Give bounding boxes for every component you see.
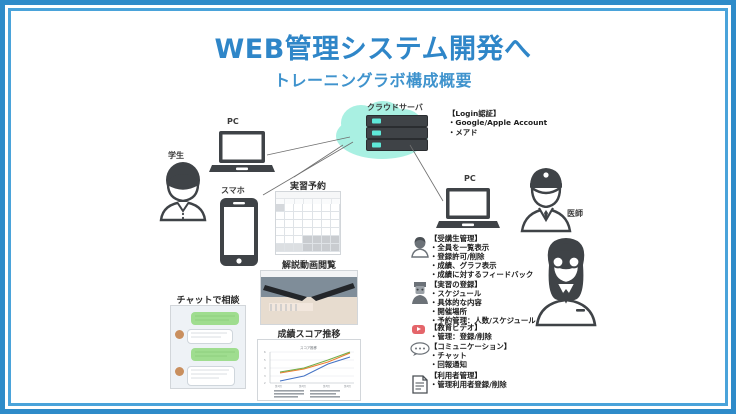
- feature-heading-4: 【利用者管理】: [430, 371, 507, 380]
- feature-item-0-1: ・登録許可/削除: [430, 252, 533, 261]
- svg-text:スコア推移: スコア推移: [300, 345, 318, 350]
- chat-bubble-received-1: [187, 329, 233, 344]
- smartphone-label: スマホ: [221, 185, 245, 196]
- feature-heading-3: 【コミュニケーション】: [430, 342, 511, 351]
- score-line-chart: スコア推移 654 32 第1回第2回 第3回第4回: [258, 340, 360, 400]
- chat-bubble-feature-icon: [410, 342, 430, 356]
- feature-item-1-2: ・開催場所: [430, 307, 536, 316]
- feature-block-3: 【コミュニケーション】 ・チャット ・回報通知: [430, 342, 511, 369]
- feature-block-2: 【教育ビデオ】 ・管理：登録/削除: [430, 323, 492, 341]
- score-chart-thumbnail: スコア推移 654 32 第1回第2回 第3回第4回: [257, 339, 361, 401]
- feature-item-0-2: ・成績、グラフ表示: [430, 261, 533, 270]
- feature-item-2-0: ・管理：登録/削除: [430, 332, 492, 341]
- connector-lines: [5, 5, 736, 414]
- chat-avatar-2: [175, 367, 184, 376]
- student-icon: [155, 160, 211, 222]
- student-feature-icon: [411, 236, 429, 258]
- feature-item-0-3: ・成績に対するフィードバック: [430, 270, 533, 279]
- video-frame: [261, 271, 357, 324]
- svg-text:5: 5: [264, 358, 266, 362]
- calendar-thumbnail: [275, 191, 341, 255]
- svg-text:2: 2: [264, 381, 266, 385]
- feature-item-3-1: ・回報通知: [430, 360, 511, 369]
- document-feature-icon: [411, 375, 429, 394]
- chat-bubble-received-2: [187, 366, 235, 386]
- svg-text:第4回: 第4回: [344, 384, 351, 388]
- feature-item-3-0: ・チャット: [430, 351, 511, 360]
- feature-heading-1: 【実習の登録】: [430, 280, 536, 289]
- pc-left-label: PC: [227, 117, 239, 126]
- svg-text:3: 3: [264, 374, 266, 378]
- feature-heading-0: 【受講生管理】: [430, 234, 533, 243]
- slide-frame: WEB管理システム開発へ トレーニングラボ構成概要 クラウドサーバ 【Login…: [0, 0, 736, 414]
- instructor-feature-icon: [411, 281, 429, 305]
- chat-bubble-sent-1: [191, 312, 239, 325]
- feature-item-1-1: ・具体的な内容: [430, 298, 536, 307]
- line-pc-to-cloud: [267, 137, 350, 155]
- feature-item-4-0: ・管理利用者登録/削除: [430, 380, 507, 389]
- svg-text:第1回: 第1回: [275, 384, 282, 388]
- feature-item-1-0: ・スケジュール: [430, 289, 536, 298]
- video-play-feature-icon: [412, 325, 425, 334]
- chat-thumbnail: [170, 305, 246, 389]
- feature-heading-2: 【教育ビデオ】: [430, 323, 492, 332]
- video-thumbnail: [260, 270, 358, 325]
- chat-avatar-1: [175, 330, 184, 339]
- feature-block-0: 【受講生管理】 ・全員を一覧表示 ・登録許可/削除 ・成績、グラフ表示 ・成績に…: [430, 234, 533, 279]
- pc-right-label: PC: [464, 174, 476, 183]
- svg-text:第3回: 第3回: [323, 384, 330, 388]
- feature-block-4: 【利用者管理】 ・管理利用者登録/削除: [430, 371, 507, 389]
- admin-woman-icon: [529, 237, 603, 329]
- svg-text:4: 4: [264, 366, 266, 370]
- laptop-right-icon: [435, 186, 501, 234]
- doctor-icon: [517, 163, 575, 235]
- smartphone-icon: [218, 196, 260, 268]
- svg-text:6: 6: [264, 350, 266, 354]
- laptop-left-icon: [208, 129, 276, 177]
- feature-block-1: 【実習の登録】 ・スケジュール ・具体的な内容 ・開催場所 ・予約管理：人数/ス…: [430, 280, 536, 325]
- chat-bubble-sent-2: [191, 348, 239, 361]
- line-calendar-to-cloud: [294, 145, 343, 177]
- svg-text:第2回: 第2回: [299, 384, 306, 388]
- feature-item-0-0: ・全員を一覧表示: [430, 243, 533, 252]
- diagram-canvas: WEB管理システム開発へ トレーニングラボ構成概要 クラウドサーバ 【Login…: [5, 5, 731, 409]
